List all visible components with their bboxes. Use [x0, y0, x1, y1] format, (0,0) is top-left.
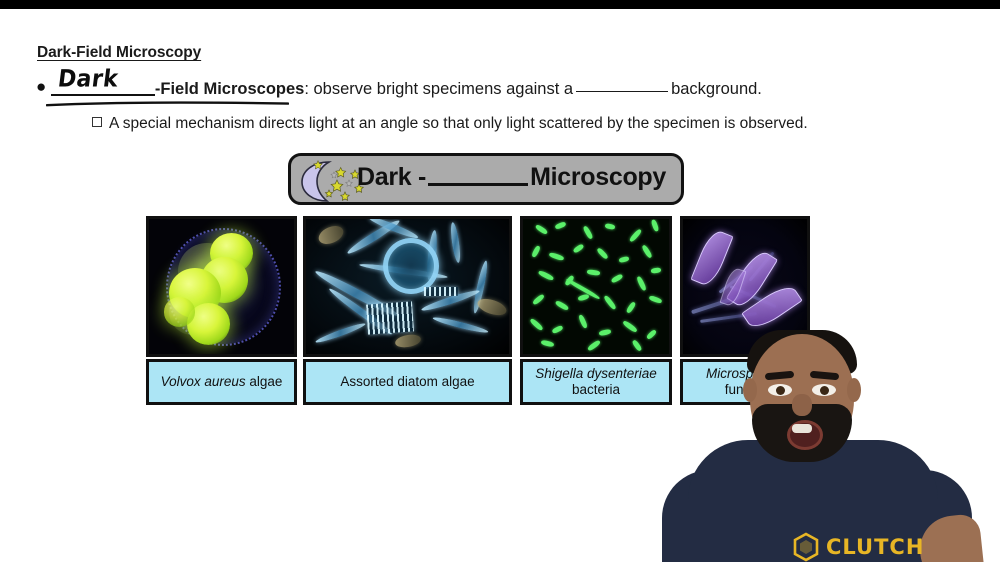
bullet-text-before-blank: : observe bright specimens against a [304, 80, 573, 98]
figure-image-volvox [146, 216, 297, 357]
handwritten-underline [46, 101, 289, 107]
fill-in-blank [576, 78, 668, 92]
caption-species-volvox: Volvox aureus [161, 374, 246, 389]
top-black-bar [0, 0, 1000, 9]
handwritten-answer: Dark [51, 74, 155, 100]
instructor-ear-left [743, 378, 757, 402]
banner-prefix: Dark - [357, 163, 426, 191]
slide-page: Dark-Field Microscopy ● Dark -Field Micr… [0, 0, 1000, 562]
volvox-aureus-darkfield-photo [149, 219, 294, 354]
figure-image-diatoms [303, 216, 512, 357]
caption-species-shigella: Shigella dysenteriae [535, 366, 657, 381]
dark-field-banner: Dark -Microscopy [288, 153, 684, 205]
instructor-nose [792, 394, 812, 416]
square-bullet-icon [92, 117, 102, 127]
sub-bullet-line: A special mechanism directs light at an … [92, 115, 808, 133]
figure-caption-diatoms: Assorted diatom algae [303, 359, 512, 405]
assorted-diatoms-darkfield-photo [306, 219, 509, 354]
bullet-text-after-blank: background. [671, 80, 762, 98]
caption-rest-shigella: bacteria [572, 382, 620, 397]
banner-text: Dark -Microscopy [357, 163, 681, 201]
handwritten-answer-rule [51, 94, 155, 96]
handwritten-answer-text: Dark [56, 66, 120, 93]
banner-suffix: Microscopy [530, 163, 666, 191]
page-title: Dark-Field Microscopy [37, 44, 201, 62]
figure-caption-volvox: Volvox aureus algae [146, 359, 297, 405]
instructor-ear-right [847, 378, 861, 402]
caption-rest-diatoms: Assorted diatom algae [340, 374, 474, 389]
banner-fill-in-blank [428, 163, 528, 186]
instructor-pupil-right [820, 386, 829, 395]
instructor-teeth [792, 424, 812, 433]
shirt-logo-text: CLUTCH [826, 535, 924, 559]
hexagon-icon [792, 532, 820, 562]
instructor-video-overlay: CLUTCH [640, 320, 1000, 562]
caption-rest-volvox: algae [246, 374, 283, 389]
bullet-dot-icon: ● [36, 78, 46, 95]
sub-bullet-text: A special mechanism directs light at an … [109, 115, 808, 132]
instructor-pupil-left [776, 386, 785, 395]
bullet-bold-term: -Field Microscopes [155, 80, 304, 98]
